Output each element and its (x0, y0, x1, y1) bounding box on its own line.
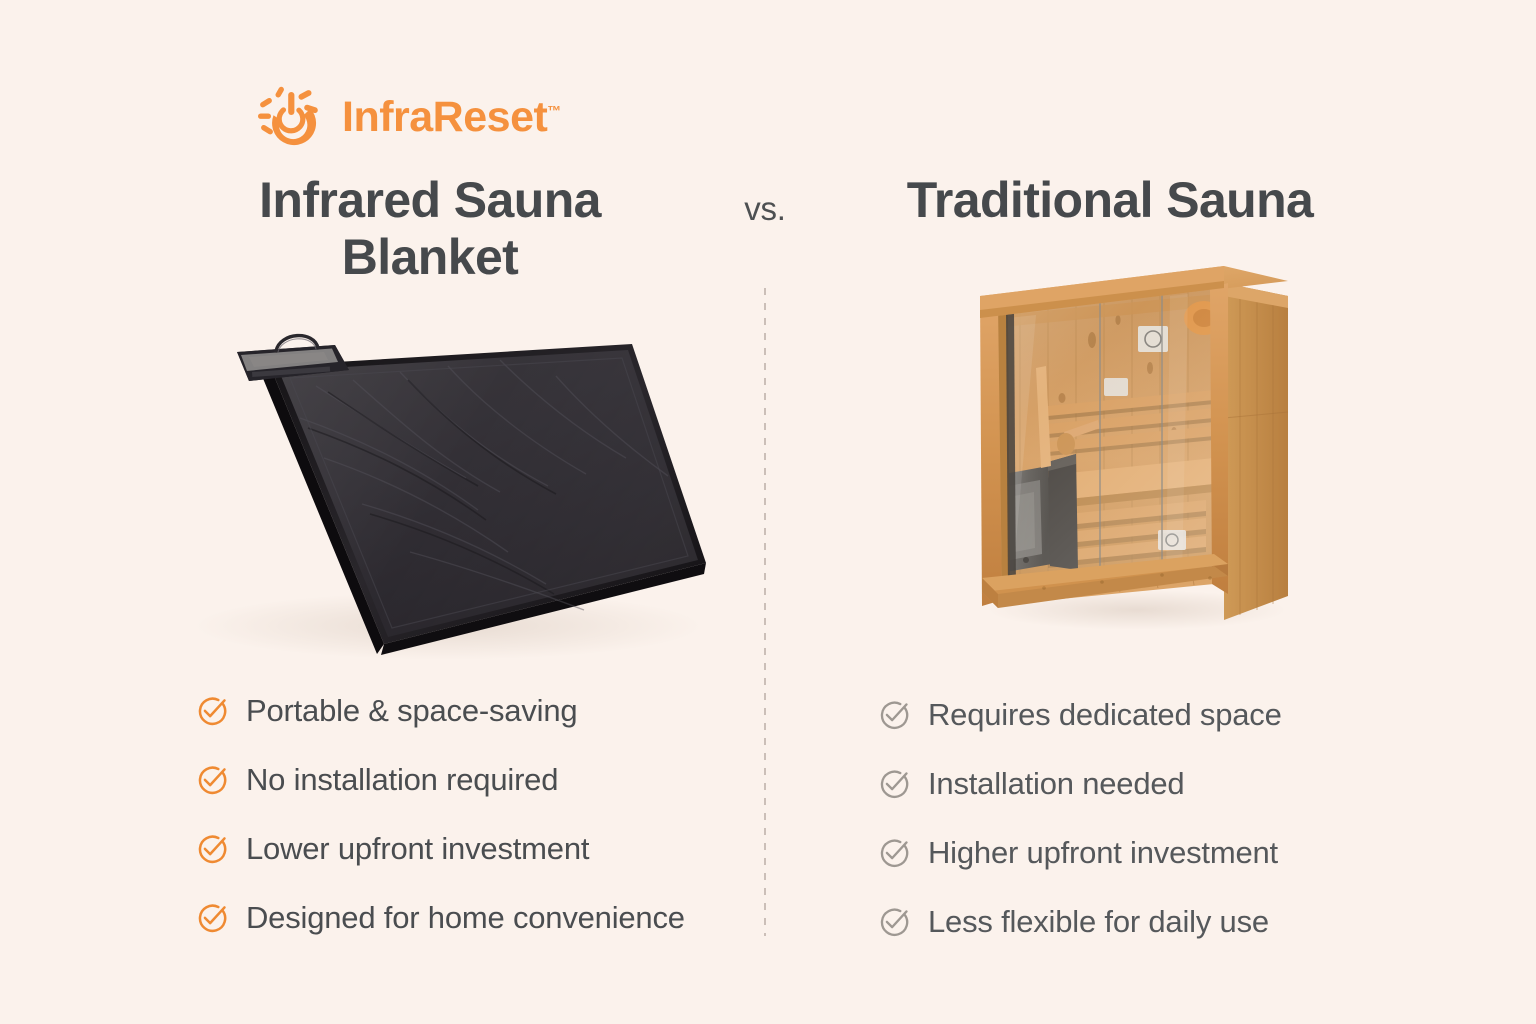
list-item: Installation needed (878, 749, 1282, 818)
feature-list-traditional-sauna: Requires dedicated space Installation ne… (878, 680, 1282, 956)
feature-label: Lower upfront investment (246, 833, 589, 864)
check-circle-icon (196, 764, 227, 795)
check-circle-icon (878, 837, 909, 868)
feature-label: Installation needed (928, 768, 1184, 799)
list-item: Portable & space-saving (196, 676, 685, 745)
list-item: No installation required (196, 745, 685, 814)
trademark-symbol: ™ (547, 102, 561, 118)
left-column-title: Infrared Sauna Blanket (150, 172, 710, 285)
vertical-dashed-divider (764, 288, 766, 936)
list-item: Requires dedicated space (878, 680, 1282, 749)
check-circle-icon (196, 695, 227, 726)
list-item: Less flexible for daily use (878, 887, 1282, 956)
feature-label: Designed for home convenience (246, 902, 685, 933)
brand-name-text: InfraReset (342, 93, 547, 141)
infrared-sauna-blanket-image (148, 326, 724, 666)
feature-label: Less flexible for daily use (928, 906, 1269, 937)
left-title-line-1: Infrared Sauna (150, 172, 710, 229)
list-item: Designed for home convenience (196, 883, 685, 952)
traditional-sauna-cabin-image (952, 248, 1312, 636)
list-item: Lower upfront investment (196, 814, 685, 883)
feature-label: No installation required (246, 764, 558, 795)
versus-label: vs. (700, 190, 830, 228)
feature-label: Requires dedicated space (928, 699, 1282, 730)
feature-label: Higher upfront investment (928, 837, 1278, 868)
check-circle-icon (878, 906, 909, 937)
sun-burst-power-icon (258, 86, 328, 148)
brand-wordmark: InfraReset™ (342, 96, 561, 139)
check-circle-icon (196, 833, 227, 864)
check-circle-icon (878, 699, 909, 730)
brand-logo: InfraReset™ (258, 86, 561, 148)
infographic-canvas: InfraReset™ Infrared Sauna Blanket vs. T… (0, 0, 1536, 1024)
list-item: Higher upfront investment (878, 818, 1282, 887)
check-circle-icon (878, 768, 909, 799)
feature-label: Portable & space-saving (246, 695, 577, 726)
feature-list-infrared-blanket: Portable & space-saving No installation … (196, 676, 685, 952)
left-title-line-2: Blanket (150, 229, 710, 286)
check-circle-icon (196, 902, 227, 933)
right-column-title: Traditional Sauna (830, 172, 1390, 229)
